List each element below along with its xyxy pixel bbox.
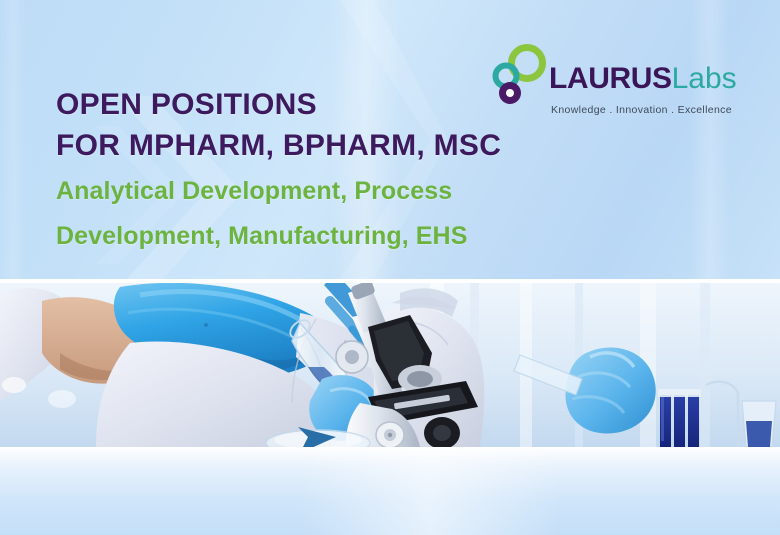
logo-wordmark: LAURUSLabs: [549, 64, 737, 94]
logo-wordmark-secondary: Labs: [672, 62, 737, 95]
subhead-line-2: Development, Manufacturing, EHS: [56, 217, 596, 256]
hero-section: OPEN POSITIONS FOR MPHARM, BPHARM, MSC A…: [0, 0, 780, 279]
hero-light-band-left: [0, 0, 26, 279]
logo-wordmark-primary: LAURUS: [549, 62, 672, 95]
laboratory-photo-illustration: [0, 283, 780, 447]
logo-tagline: Knowledge . Innovation . Excellence: [551, 104, 732, 116]
footer-gradient-area: [0, 447, 780, 535]
hero-light-band-right: [690, 0, 730, 279]
laboratory-photo: [0, 283, 780, 447]
subhead-line-1: Analytical Development, Process: [56, 172, 596, 211]
footer-sheen: [300, 447, 560, 535]
headline-line-2: FOR MPHARM, BPHARM, MSC: [56, 125, 596, 166]
logo-circles-icon: [487, 44, 551, 106]
laurus-labs-logo: LAURUSLabs Knowledge . Innovation . Exce…: [487, 44, 712, 130]
recruitment-banner: OPEN POSITIONS FOR MPHARM, BPHARM, MSC A…: [0, 0, 780, 535]
